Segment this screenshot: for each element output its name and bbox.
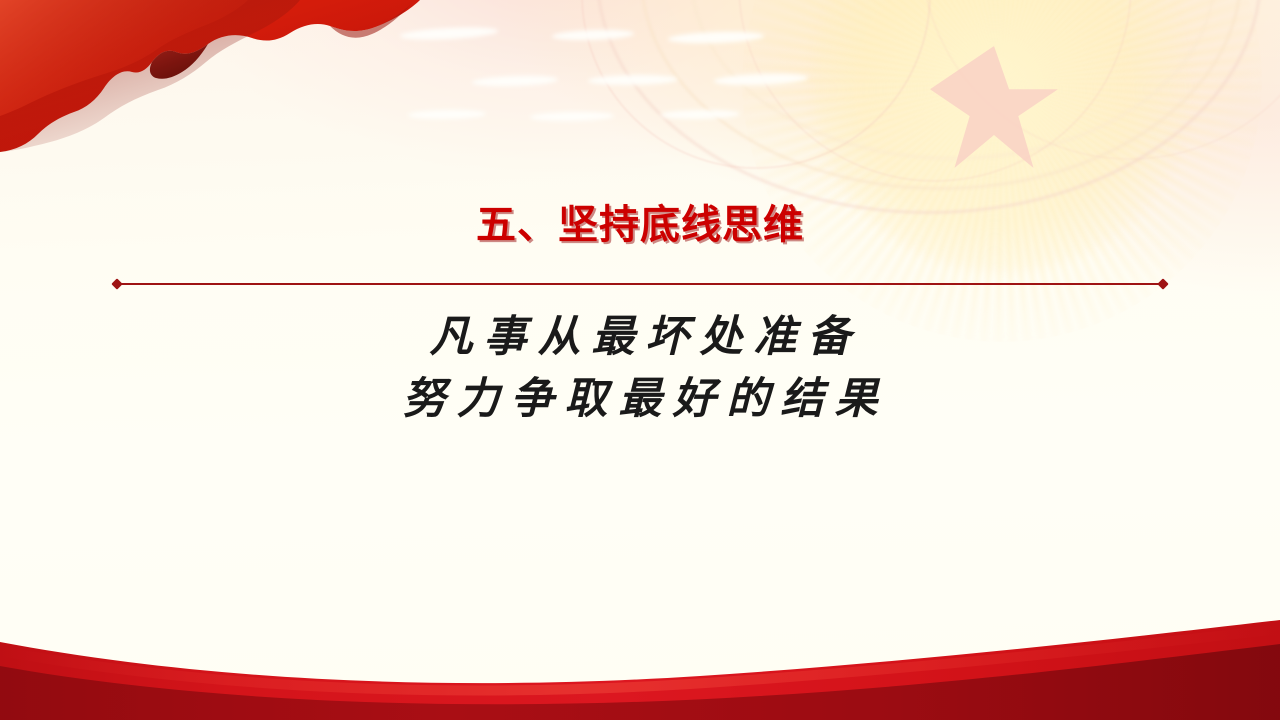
- verse-line-1: 凡事从最坏处准备: [0, 306, 1280, 368]
- page-title: 五、坚持底线思维: [0, 205, 1280, 245]
- divider: [113, 283, 1167, 285]
- verse-line-2: 努力争取最好的结果: [0, 368, 1280, 430]
- slide-canvas: 五、坚持底线思维 凡事从最坏处准备 努力争取最好的结果: [0, 0, 1280, 720]
- divider-rule: [118, 283, 1162, 285]
- red-silk-ribbon: [0, 0, 420, 210]
- red-wave-band: [0, 610, 1280, 720]
- verse-block: 凡事从最坏处准备 努力争取最好的结果: [0, 306, 1280, 430]
